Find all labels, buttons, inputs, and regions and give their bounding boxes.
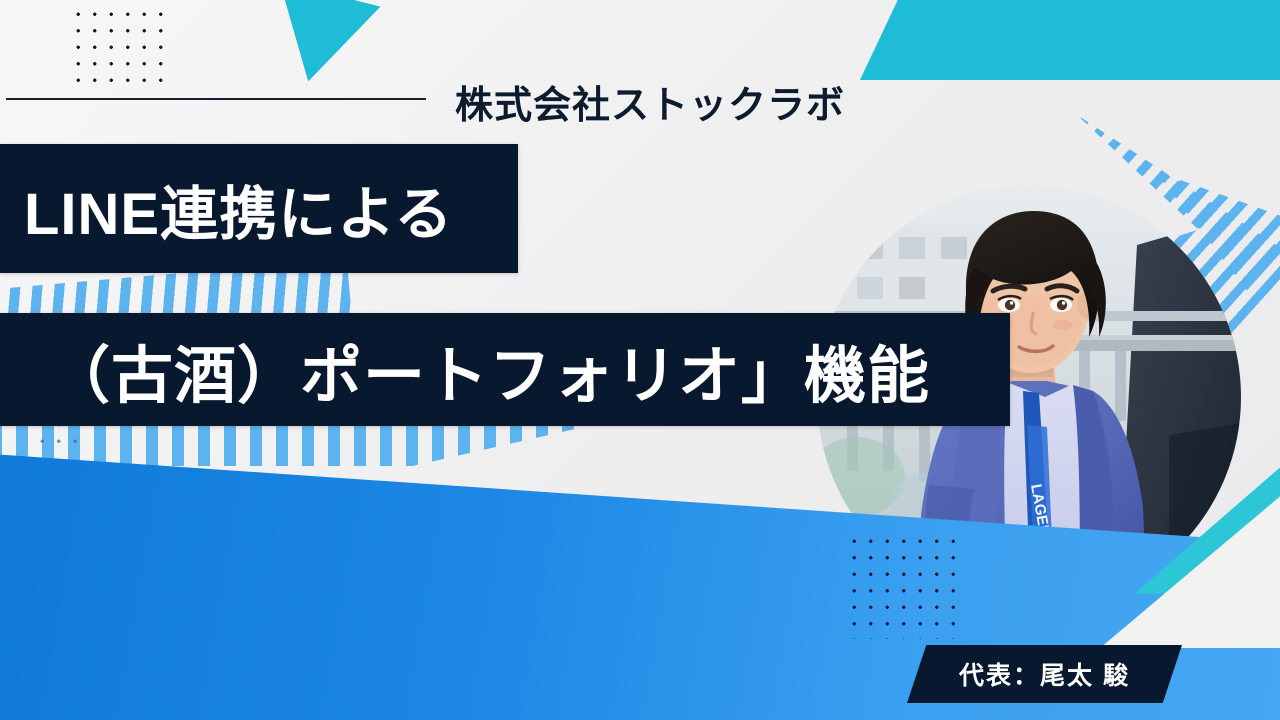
presenter-name-badge: 代表：尾太 駿 [907,645,1182,703]
company-name: 株式会社ストックラボ [455,74,845,129]
horizontal-rule-divider [6,98,426,100]
cyan-parallelogram-top-right [860,0,1280,80]
dot-grid-bottom-right-icon [846,533,958,639]
slide-canvas: LAGERFELD [0,0,1280,720]
dot-grid-top-left-icon [70,6,170,84]
cyan-triangle-top-center [258,0,381,94]
slide-title-line-2: （古酒）ポートフォリオ」機能 [0,313,1010,426]
slide-title-line-1: LINE連携による [0,144,518,273]
